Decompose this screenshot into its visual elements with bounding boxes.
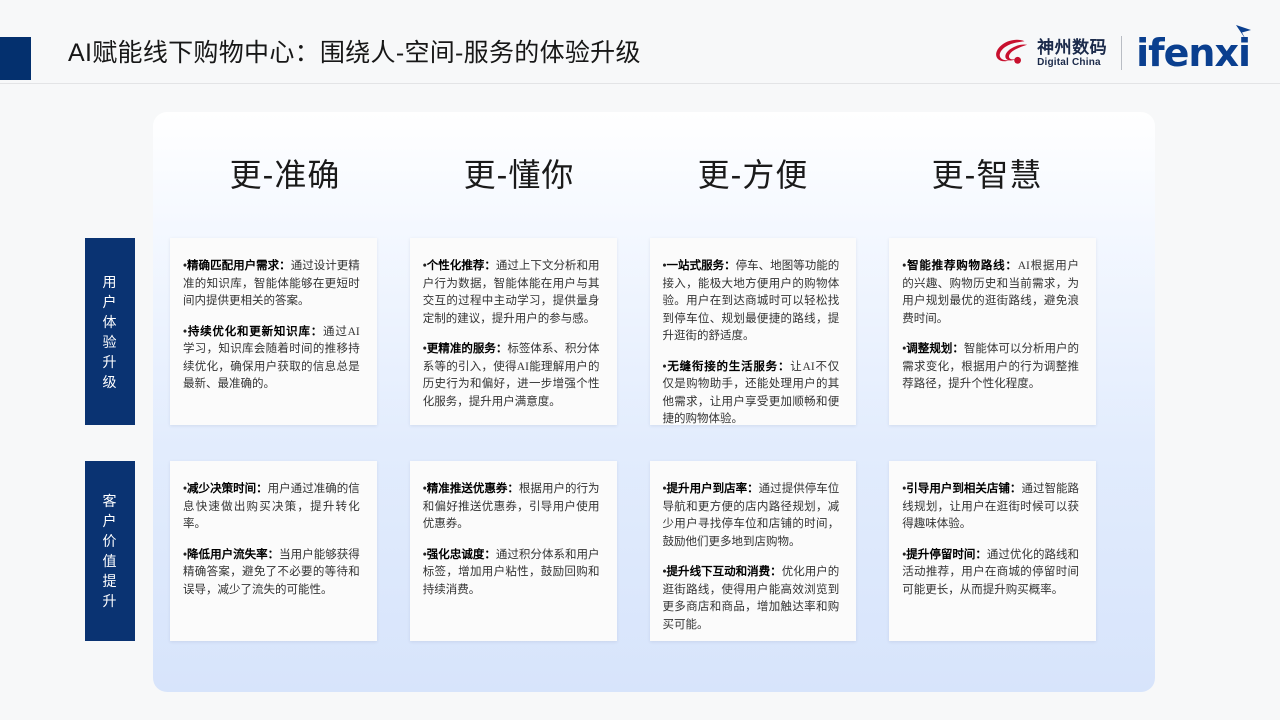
row-label-text: 客户价值提升 (102, 491, 118, 611)
column-header-row: 更-准确 更-懂你 更-方便 更-智慧 (168, 152, 1104, 202)
digital-china-logo: 神州数码 Digital China (994, 38, 1107, 68)
bullet-item: •一站式服务：停车、地图等功能的接入，能极大地方便用户的购物体验。用户在到达商城… (663, 258, 840, 346)
column-header-3: 更-智慧 (870, 152, 1104, 202)
row-label-customer-value: 客户价值提升 (85, 461, 135, 641)
row-label-user-experience: 用户体验升级 (85, 238, 135, 425)
digital-china-swirl-icon (994, 38, 1030, 68)
digital-china-name-en: Digital China (1037, 58, 1107, 68)
bullet-term: 减少决策时间： (187, 483, 268, 495)
bullet-term: 无缝衔接的生活服务： (667, 361, 791, 373)
logo-group: 神州数码 Digital China ifenxi (994, 30, 1250, 76)
card-r0-c0: •精确匹配用户需求：通过设计更精准的知识库，智能体能够在更短时间内提供更相关的答… (170, 238, 377, 425)
bullet-desc: 停车、地图等功能的接入，能极大地方便用户的购物体验。用户在到达商城时可以轻松找到… (663, 260, 840, 342)
bullet-item: •调整规划：智能体可以分析用户的需求变化，根据用户的行为调整推荐路径，提升个性化… (902, 341, 1079, 394)
ifenxi-arrow-icon (1235, 24, 1252, 41)
bullet-item: •个性化推荐：通过上下文分析和用户行为数据，智能体能在用户与其交互的过程中主动学… (423, 258, 600, 328)
card-r0-c3: •智能推荐购物路线：AI根据用户的兴趣、购物历史和当前需求，为用户规划最优的逛街… (889, 238, 1096, 425)
bullet-term: 更精准的服务： (427, 343, 508, 355)
bullet-term: 降低用户流失率： (187, 549, 279, 561)
page-header: AI赋能线下购物中心：围绕人-空间-服务的体验升级 神州数码 Digital C… (0, 0, 1280, 84)
page-title: AI赋能线下购物中心：围绕人-空间-服务的体验升级 (68, 36, 641, 70)
bullet-item: •减少决策时间：用户通过准确的信息快速做出购买决策，提升转化率。 (183, 481, 360, 534)
bullet-term: 个性化推荐： (427, 260, 496, 272)
bullet-term: 提升线下互动和消费： (667, 566, 782, 578)
bullet-item: •提升线下互动和消费：优化用户的逛街路线，使得用户能高效浏览到更多商店和商品，增… (663, 564, 840, 634)
bullet-term: 精准推送优惠券： (427, 483, 519, 495)
bullet-term: 智能推荐购物路线： (906, 260, 1017, 272)
card-r1-c3: •引导用户到相关店铺：通过智能路线规划，让用户在逛街时候可以获得趣味体验。 •提… (889, 461, 1096, 641)
digital-china-wordmark: 神州数码 Digital China (1037, 39, 1107, 68)
ifenxi-wordmark: ifenxi (1136, 34, 1250, 72)
card-r1-c2: •提升用户到店率：通过提供停车位导航和更方便的店内路径规划，减少用户寻找停车位和… (650, 461, 857, 641)
bullet-item: •持续优化和更新知识库：通过AI学习，知识库会随着时间的推移持续优化，确保用户获… (183, 324, 360, 394)
bullet-item: •智能推荐购物路线：AI根据用户的兴趣、购物历史和当前需求，为用户规划最优的逛街… (902, 258, 1079, 328)
logo-divider (1121, 36, 1122, 70)
column-header-1: 更-懂你 (402, 152, 636, 202)
bullet-item: •精准推送优惠券：根据用户的行为和偏好推送优惠券，引导用户使用优惠券。 (423, 481, 600, 534)
bullet-item: •强化忠诚度：通过积分体系和用户标签，增加用户粘性，鼓励回购和持续消费。 (423, 547, 600, 600)
bullet-term: 持续优化和更新知识库： (187, 326, 323, 338)
card-r1-c0: •减少决策时间：用户通过准确的信息快速做出购买决策，提升转化率。 •降低用户流失… (170, 461, 377, 641)
bullet-term: 提升停留时间： (906, 549, 987, 561)
bullet-item: •降低用户流失率：当用户能够获得精确答案，避免了不必要的等待和误导，减少了流失的… (183, 547, 360, 600)
bullet-item: •提升停留时间：通过优化的路线和活动推荐，用户在商城的停留时间可能更长，从而提升… (902, 547, 1079, 600)
bullet-item: •更精准的服务：标签体系、积分体系等的引入，使得AI能理解用户的历史行为和偏好，… (423, 341, 600, 411)
bullet-term: 引导用户到相关店铺： (906, 483, 1021, 495)
bullet-item: •精确匹配用户需求：通过设计更精准的知识库，智能体能够在更短时间内提供更相关的答… (183, 258, 360, 311)
bullet-item: •无缝衔接的生活服务：让AI不仅仅是购物助手，还能处理用户的其他需求，让用户享受… (663, 359, 840, 426)
card-r1-c1: •精准推送优惠券：根据用户的行为和偏好推送优惠券，引导用户使用优惠券。 •强化忠… (410, 461, 617, 641)
card-r0-c1: •个性化推荐：通过上下文分析和用户行为数据，智能体能在用户与其交互的过程中主动学… (410, 238, 617, 425)
card-r0-c2: •一站式服务：停车、地图等功能的接入，能极大地方便用户的购物体验。用户在到达商城… (650, 238, 857, 425)
bullet-term: 一站式服务： (667, 260, 736, 272)
bullet-term: 提升用户到店率： (667, 483, 759, 495)
card-row-user-experience: •精确匹配用户需求：通过设计更精准的知识库，智能体能够在更短时间内提供更相关的答… (170, 238, 1096, 425)
header-accent-block (0, 37, 31, 80)
bullet-term: 调整规划： (906, 343, 964, 355)
column-header-2: 更-方便 (636, 152, 870, 202)
ifenxi-logo: ifenxi (1136, 34, 1250, 72)
row-label-text: 用户体验升级 (102, 272, 118, 392)
card-row-customer-value: •减少决策时间：用户通过准确的信息快速做出购买决策，提升转化率。 •降低用户流失… (170, 461, 1096, 641)
bullet-term: 精确匹配用户需求： (187, 260, 291, 272)
digital-china-name-cn: 神州数码 (1037, 39, 1107, 56)
bullet-item: •提升用户到店率：通过提供停车位导航和更方便的店内路径规划，减少用户寻找停车位和… (663, 481, 840, 551)
bullet-term: 强化忠诚度： (427, 549, 496, 561)
column-header-0: 更-准确 (168, 152, 402, 202)
bullet-item: •引导用户到相关店铺：通过智能路线规划，让用户在逛街时候可以获得趣味体验。 (902, 481, 1079, 534)
